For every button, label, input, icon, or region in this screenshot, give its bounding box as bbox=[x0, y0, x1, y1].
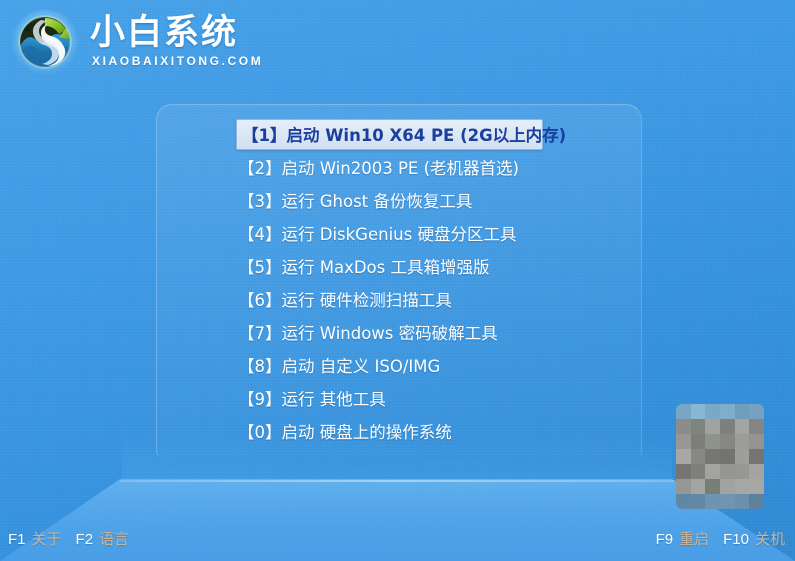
menu-item-label: 【5】运行 MaxDos 工具箱增强版 bbox=[238, 254, 490, 278]
function-key-f1[interactable]: F1关于 bbox=[8, 528, 62, 549]
mosaic-cell bbox=[720, 419, 735, 434]
mosaic-cell bbox=[735, 404, 750, 419]
menu-item-1[interactable]: 【1】启动 Win10 X64 PE (2G以上内存) bbox=[156, 117, 642, 150]
mosaic-cell bbox=[749, 479, 764, 494]
function-key-name: F9 bbox=[656, 531, 674, 548]
boot-menu-screen: 小白系统 XIAOBAIXITONG.COM 【1】启动 Win10 X64 P… bbox=[0, 0, 795, 561]
mosaic-cell bbox=[691, 419, 706, 434]
menu-item-label: 【2】启动 Win2003 PE (老机器首选) bbox=[238, 155, 519, 179]
mosaic-cell bbox=[676, 479, 691, 494]
boot-menu-list: 【1】启动 Win10 X64 PE (2G以上内存)【2】启动 Win2003… bbox=[156, 112, 642, 447]
function-key-f2[interactable]: F2语言 bbox=[76, 528, 130, 549]
function-key-label: 关机 bbox=[755, 528, 785, 549]
function-key-name: F2 bbox=[76, 531, 94, 548]
mosaic-cell bbox=[720, 464, 735, 479]
mosaic-cell bbox=[749, 404, 764, 419]
mosaic-cell bbox=[705, 419, 720, 434]
menu-item-label: 【4】运行 DiskGenius 硬盘分区工具 bbox=[238, 221, 516, 245]
function-bar-right: F9重启F10关机 bbox=[656, 528, 785, 549]
menu-item-3[interactable]: 【3】运行 Ghost 备份恢复工具 bbox=[156, 183, 642, 216]
menu-item-4[interactable]: 【4】运行 DiskGenius 硬盘分区工具 bbox=[156, 216, 642, 249]
menu-item-2[interactable]: 【2】启动 Win2003 PE (老机器首选) bbox=[156, 150, 642, 183]
function-bar-left: F1关于F2语言 bbox=[8, 528, 129, 549]
menu-item-label: 【7】运行 Windows 密码破解工具 bbox=[238, 320, 498, 344]
mosaic-cell bbox=[720, 479, 735, 494]
menu-item-label: 【8】启动 自定义 ISO/IMG bbox=[238, 353, 440, 377]
circular-refresh-logo-icon bbox=[8, 6, 82, 80]
brand-text: 小白系统 XIAOBAIXITONG.COM bbox=[90, 13, 263, 73]
mosaic-cell bbox=[676, 419, 691, 434]
mosaic-cell bbox=[676, 434, 691, 449]
brand-logo: 小白系统 XIAOBAIXITONG.COM bbox=[8, 6, 263, 80]
function-key-label: 关于 bbox=[32, 528, 62, 549]
mosaic-cell bbox=[735, 494, 750, 509]
function-key-label: 重启 bbox=[679, 528, 709, 549]
mosaic-cell bbox=[720, 494, 735, 509]
mosaic-cell bbox=[691, 449, 706, 464]
function-key-label: 语言 bbox=[99, 528, 129, 549]
menu-item-8[interactable]: 【8】启动 自定义 ISO/IMG bbox=[156, 348, 642, 381]
mosaic-cell bbox=[735, 479, 750, 494]
menu-item-label: 【3】运行 Ghost 备份恢复工具 bbox=[238, 188, 472, 212]
mosaic-cell bbox=[735, 449, 750, 464]
mosaic-cell bbox=[676, 449, 691, 464]
menu-item-7[interactable]: 【7】运行 Windows 密码破解工具 bbox=[156, 315, 642, 348]
menu-item-label: 【1】启动 Win10 X64 PE (2G以上内存) bbox=[238, 122, 566, 146]
mosaic-cell bbox=[720, 449, 735, 464]
pixelated-watermark-overlay bbox=[676, 404, 764, 509]
menu-item-9[interactable]: 【9】运行 其他工具 bbox=[156, 381, 642, 414]
menu-item-5[interactable]: 【5】运行 MaxDos 工具箱增强版 bbox=[156, 249, 642, 282]
mosaic-cell bbox=[676, 404, 691, 419]
mosaic-cell bbox=[705, 464, 720, 479]
menu-item-label: 【9】运行 其他工具 bbox=[238, 386, 386, 410]
menu-item-label: 【6】运行 硬件检测扫描工具 bbox=[238, 287, 452, 311]
function-key-name: F1 bbox=[8, 531, 26, 548]
mosaic-cell bbox=[749, 464, 764, 479]
mosaic-cell bbox=[705, 449, 720, 464]
mosaic-cell bbox=[705, 494, 720, 509]
mosaic-cell bbox=[749, 434, 764, 449]
function-key-f10[interactable]: F10关机 bbox=[723, 528, 785, 549]
mosaic-cell bbox=[735, 419, 750, 434]
mosaic-cell bbox=[720, 434, 735, 449]
mosaic-cell bbox=[691, 464, 706, 479]
mosaic-cell bbox=[676, 464, 691, 479]
menu-item-label: 【0】启动 硬盘上的操作系统 bbox=[238, 419, 452, 443]
mosaic-cell bbox=[720, 404, 735, 419]
function-key-name: F10 bbox=[723, 531, 749, 548]
mosaic-cell bbox=[705, 434, 720, 449]
brand-name-cn: 小白系统 bbox=[90, 13, 263, 53]
mosaic-cell bbox=[705, 479, 720, 494]
mosaic-cell bbox=[749, 419, 764, 434]
mosaic-cell bbox=[735, 464, 750, 479]
brand-name-en: XIAOBAIXITONG.COM bbox=[92, 54, 263, 69]
mosaic-cell bbox=[691, 404, 706, 419]
mosaic-cell bbox=[705, 404, 720, 419]
menu-item-0[interactable]: 【0】启动 硬盘上的操作系统 bbox=[156, 414, 642, 447]
mosaic-cell bbox=[749, 494, 764, 509]
mosaic-cell bbox=[735, 434, 750, 449]
mosaic-cell bbox=[691, 479, 706, 494]
mosaic-cell bbox=[691, 494, 706, 509]
mosaic-cell bbox=[676, 494, 691, 509]
mosaic-cell bbox=[691, 434, 706, 449]
menu-item-6[interactable]: 【6】运行 硬件检测扫描工具 bbox=[156, 282, 642, 315]
mosaic-cell bbox=[749, 449, 764, 464]
function-key-f9[interactable]: F9重启 bbox=[656, 528, 710, 549]
